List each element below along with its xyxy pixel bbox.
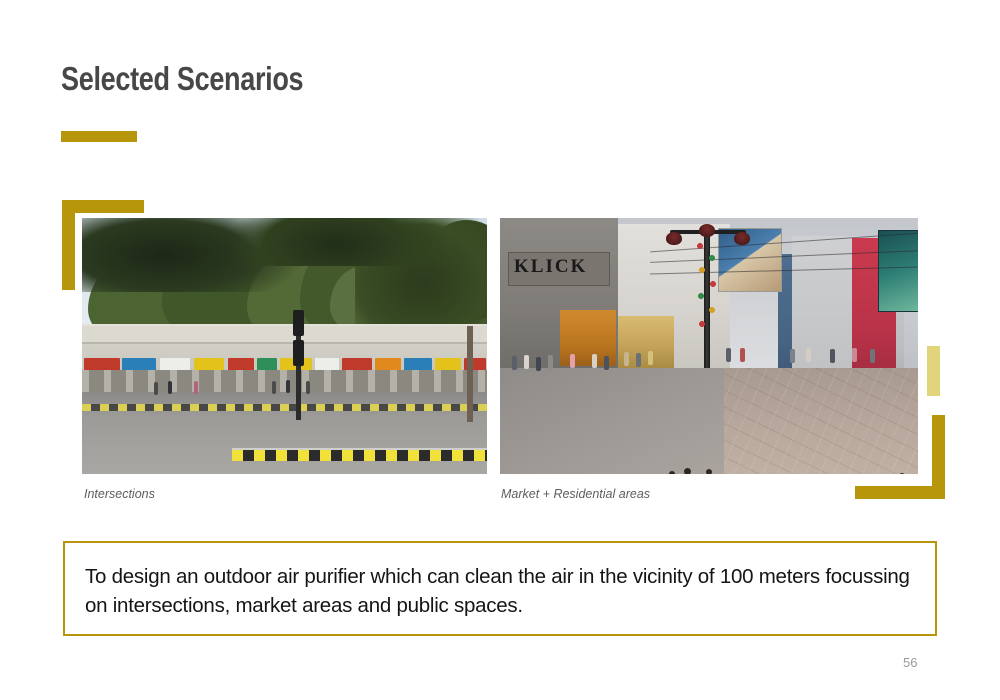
- pedestrian: [830, 349, 835, 363]
- pedestrian: [636, 353, 641, 367]
- street-ground: [500, 368, 918, 474]
- accent-tick-bar: [927, 346, 940, 396]
- pedestrian: [524, 355, 529, 369]
- pedestrian: [168, 381, 172, 394]
- plaza-paving-left: [500, 368, 730, 474]
- shop-arcade-pillars: [82, 370, 487, 394]
- lamp-icon: [734, 232, 750, 245]
- title-accent-rule: [61, 131, 137, 142]
- page-number: 56: [903, 655, 917, 670]
- billboard-poster: [718, 228, 782, 292]
- person-head: [899, 473, 905, 474]
- slide: Selected Scenarios: [0, 0, 1000, 700]
- pedestrian: [740, 348, 745, 362]
- pedestrian: [286, 380, 290, 393]
- pedestrian: [154, 382, 158, 395]
- utility-pole: [467, 326, 473, 422]
- person-head: [684, 468, 691, 474]
- building: [792, 236, 860, 376]
- pedestrian: [548, 355, 553, 369]
- pedestrian: [726, 348, 731, 362]
- pedestrian: [790, 349, 795, 363]
- pedestrian: [806, 348, 811, 362]
- traffic-signal-head: [293, 340, 304, 366]
- pedestrian: [570, 354, 575, 368]
- pedestrian: [536, 357, 541, 371]
- pedestrian: [592, 354, 597, 368]
- figure-image-intersections: [82, 218, 487, 474]
- market-street-scene: KLICK: [500, 218, 918, 474]
- lamp-icon: [699, 224, 715, 237]
- pedestrian: [648, 351, 653, 365]
- pedestrian: [604, 356, 609, 370]
- figure-caption-intersections: Intersections: [84, 487, 155, 501]
- design-statement-box: To design an outdoor air purifier which …: [63, 541, 937, 636]
- kerb-striping: [82, 404, 487, 411]
- median-kerb: [232, 448, 487, 461]
- shop-building-row: [82, 324, 487, 394]
- lamp-icon: [666, 232, 682, 245]
- festive-garland: [696, 240, 718, 336]
- road-surface: [82, 392, 487, 474]
- billboard-watch-ad: [878, 230, 918, 312]
- pedestrian: [512, 356, 517, 370]
- foreground-foliage: [232, 218, 442, 266]
- pedestrian: [272, 381, 276, 394]
- storefront-sign-text: KLICK: [514, 256, 587, 278]
- design-statement-text: To design an outdoor air purifier which …: [85, 562, 915, 620]
- figure-caption-market: Market + Residential areas: [501, 487, 650, 501]
- traffic-signal-head: [293, 310, 304, 336]
- person-head: [669, 471, 675, 474]
- page-title: Selected Scenarios: [61, 60, 303, 98]
- pedestrian: [624, 352, 629, 366]
- building-parapet: [82, 326, 487, 344]
- pedestrian: [306, 381, 310, 394]
- person-head: [706, 469, 712, 474]
- pedestrian: [852, 348, 857, 362]
- pedestrian: [194, 381, 198, 394]
- intersection-scene: [82, 218, 487, 474]
- figure-image-market: KLICK: [500, 218, 918, 474]
- pedestrian: [870, 349, 875, 363]
- plaza-paving-right: [724, 368, 918, 474]
